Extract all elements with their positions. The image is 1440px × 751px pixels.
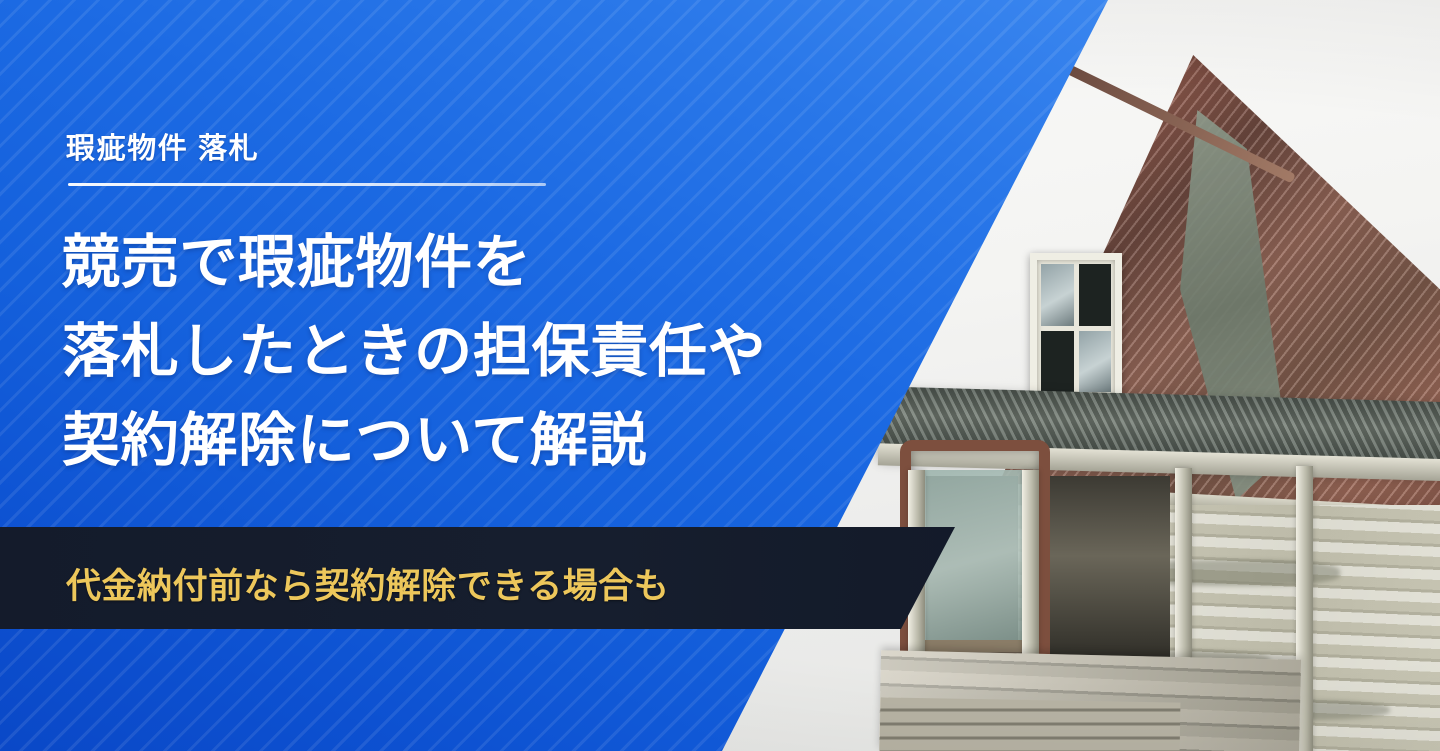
banner-canvas: 瑕疵物件 落札 競売で瑕疵物件を 落札したときの担保責任や 契約解除について解説… xyxy=(0,0,1440,751)
headline-line-1: 競売で瑕疵物件を xyxy=(62,218,942,307)
divider-rule xyxy=(68,183,546,186)
banner-text-content: 瑕疵物件 落札 競売で瑕疵物件を 落札したときの担保責任や 契約解除について解説 xyxy=(0,0,1120,751)
page-title: 競売で瑕疵物件を 落札したときの担保責任や 契約解除について解説 xyxy=(62,218,942,485)
headline-line-3: 契約解除について解説 xyxy=(62,396,942,485)
eyebrow-label: 瑕疵物件 落札 xyxy=(66,125,259,167)
subtitle-text: 代金納付前なら契約解除できる場合も xyxy=(66,558,669,609)
headline-line-2: 落札したときの担保責任や xyxy=(62,307,942,396)
